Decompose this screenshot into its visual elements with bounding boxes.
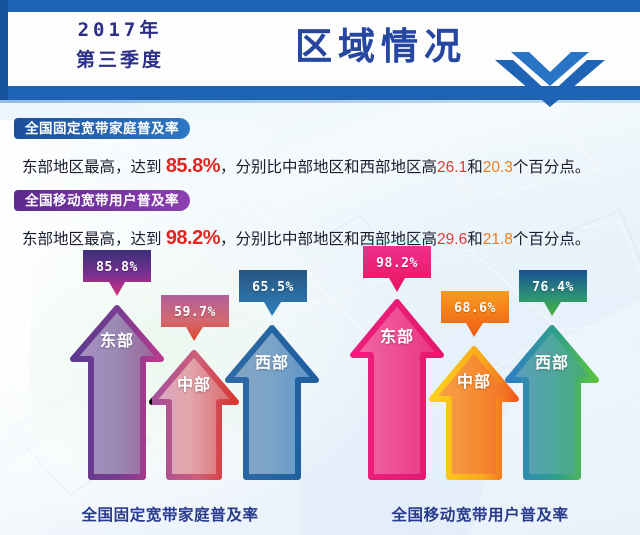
quarter-label: 第三季度 (40, 46, 200, 76)
value-flag-east: 98.2% (363, 248, 431, 280)
header: 2017年 第三季度 区域情况 (0, 0, 640, 107)
region-label-east: 东部 (73, 327, 161, 351)
infographic-page: 2017年 第三季度 区域情况 全国固定宽带家庭普及率 东部地区最高，达到 85… (0, 0, 640, 535)
header-band-top (0, 0, 640, 12)
region-label-west: 西部 (228, 349, 316, 373)
chart-caption-fixed: 全国固定宽带家庭普及率 (20, 503, 320, 525)
double-chevron-down-icon (495, 52, 605, 107)
stmt1-diff-central: 26.1 (437, 159, 467, 176)
quarter-year: 2017年 (40, 14, 200, 46)
chart-fixed-broadband: 85.8% 59.7% 65.5% 东部 中部 西部 全国固定宽带家庭普及率 (20, 250, 320, 535)
chart-caption-mobile: 全国移动宽带用户普及率 (330, 503, 630, 525)
value-flag-west: 76.4% (519, 272, 587, 304)
stmt1-diff-western: 20.3 (483, 159, 513, 176)
region-label-west: 西部 (508, 349, 596, 373)
stmt1-part4: 和 (467, 159, 483, 176)
statement-fixed-broadband: 东部地区最高，达到 85.8%，分别比中部地区和西部地区高26.1和20.3个百… (22, 155, 628, 179)
page-title: 区域情况 (295, 16, 467, 78)
badge-mobile-broadband: 全国移动宽带用户普及率 (14, 190, 190, 211)
header-left-accent (0, 0, 8, 100)
region-label-central: 中部 (432, 368, 516, 392)
badge-fixed-broadband: 全国固定宽带家庭普及率 (14, 118, 190, 139)
region-label-central: 中部 (152, 371, 236, 395)
region-label-east: 东部 (353, 323, 441, 347)
value-flag-central: 59.7% (161, 297, 229, 329)
value-flag-east: 85.8% (83, 252, 151, 284)
value-flag-west: 65.5% (239, 272, 307, 304)
stmt1-part0: 东部地区最高，达到 (22, 159, 166, 176)
stmt1-value: 85.8% (166, 155, 220, 177)
quarter-stamp: 2017年 第三季度 (40, 14, 200, 84)
stmt1-part2: ，分别比中部地区和西部地区高 (220, 159, 437, 176)
chart-mobile-broadband: 98.2% 68.6% 76.4% 东部 中部 西部 全国移动宽带用户普及率 (330, 250, 630, 535)
value-flag-central: 68.6% (441, 293, 509, 325)
stmt1-part6: 个百分点。 (513, 159, 591, 176)
